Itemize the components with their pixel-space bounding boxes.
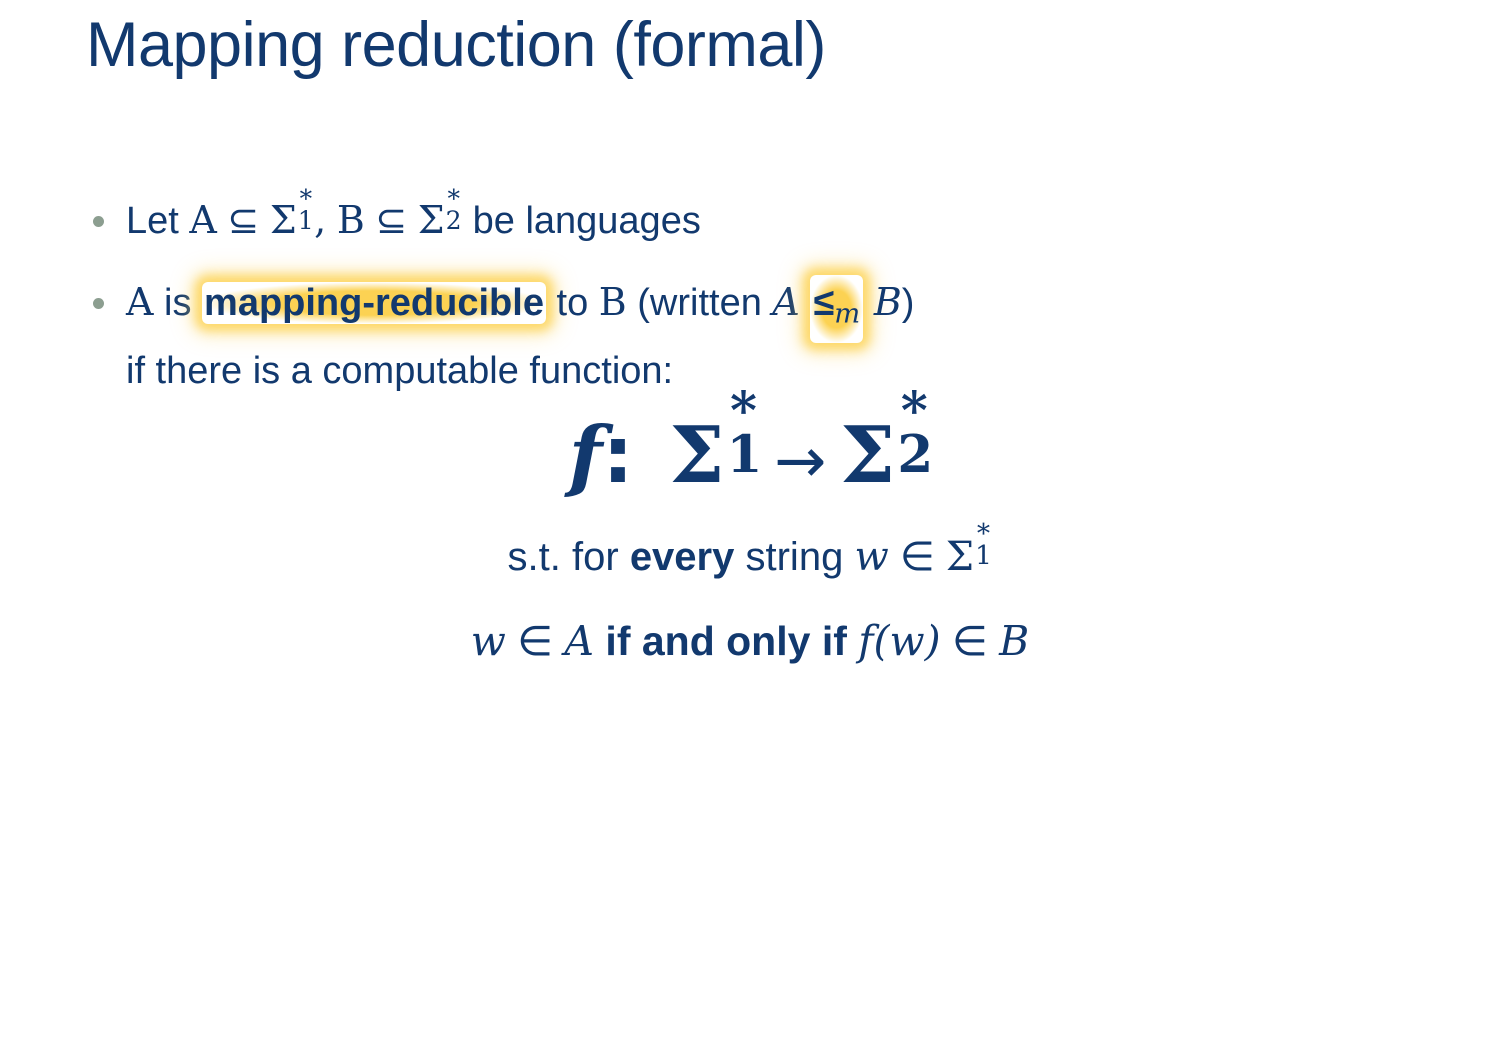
right-arrow-icon: → bbox=[760, 424, 840, 497]
comma: , bbox=[314, 198, 326, 242]
text-is: is bbox=[164, 282, 191, 324]
colon: : bbox=[602, 411, 633, 501]
sigma-1-star-display: Σ∗1 bbox=[669, 404, 760, 504]
bullet-dot-icon bbox=[93, 216, 104, 227]
le-operator: ≤ bbox=[813, 282, 834, 324]
var-A: A bbox=[126, 280, 153, 324]
text-if-and-only-if-bold: if and only if bbox=[605, 618, 846, 664]
sigma-subscript: 1 bbox=[727, 430, 763, 481]
sigma-subscript: 1 bbox=[975, 543, 992, 569]
function-signature-formula: f:Σ∗1→Σ∗2 bbox=[0, 404, 1500, 509]
function-name-f: f bbox=[569, 410, 603, 501]
var-A: A bbox=[189, 198, 216, 242]
sigma-glyph: Σ bbox=[946, 534, 974, 580]
sigma-1-star: Σ∗1 bbox=[270, 192, 314, 249]
element-of-operator: ∈ bbox=[517, 617, 553, 665]
text-st-for: s.t. for bbox=[508, 535, 619, 579]
function-name-f: f bbox=[858, 617, 873, 665]
subset-operator-2: ⊆ bbox=[375, 198, 407, 242]
element-of-operator-2: ∈ bbox=[952, 617, 988, 665]
sigma-2-star: Σ∗2 bbox=[418, 192, 462, 249]
text-written-open: (written bbox=[637, 282, 762, 324]
element-of-operator: ∈ bbox=[900, 534, 935, 580]
text-written-close: ) bbox=[902, 282, 915, 324]
text-to: to bbox=[557, 282, 589, 324]
text-every-bold: every bbox=[630, 535, 735, 579]
highlight-mapping-reducible: mapping-reducible bbox=[202, 282, 546, 324]
math-var-w-arg: w bbox=[889, 617, 924, 665]
math-var-A: A bbox=[564, 617, 594, 665]
math-var-w: w bbox=[854, 534, 888, 580]
sigma-glyph-2: Σ bbox=[840, 410, 895, 501]
bullet-dot-icon bbox=[93, 298, 104, 309]
slide-canvas: Mapping reduction (formal) Let A ⊆ Σ∗1, … bbox=[0, 0, 1500, 1050]
page-title: Mapping reduction (formal) bbox=[86, 6, 826, 84]
sigma-glyph: Σ bbox=[669, 410, 724, 501]
kleene-star: ∗ bbox=[726, 376, 762, 427]
kleene-star: ∗ bbox=[975, 516, 993, 542]
list-item: Let A ⊆ Σ∗1, B ⊆ Σ∗2 be languages bbox=[84, 192, 1424, 250]
sigma-2-star-display: Σ∗2 bbox=[840, 404, 931, 504]
highlight-le-m: ≤m bbox=[810, 275, 863, 343]
subset-operator: ⊆ bbox=[227, 198, 259, 242]
text-be-languages: be languages bbox=[473, 200, 701, 242]
math-var-w: w bbox=[471, 617, 506, 665]
condition-iff: w ∈ A if and only if f(w) ∈ B bbox=[0, 612, 1500, 670]
bullet-text-languages: Let A ⊆ Σ∗1, B ⊆ Σ∗2 be languages bbox=[126, 200, 701, 242]
var-B: B bbox=[599, 280, 627, 324]
text-let: Let bbox=[126, 200, 179, 242]
sigma-1-star-condition: Σ∗1 bbox=[946, 529, 993, 585]
math-var-A: A bbox=[772, 280, 799, 324]
paren-open: ( bbox=[873, 617, 889, 665]
bullet-text-mapping-reducible: A is mapping-reducible to B (written A ≤… bbox=[126, 282, 914, 392]
le-subscript-m: m bbox=[834, 299, 860, 330]
math-var-B: B bbox=[999, 617, 1029, 665]
slide-body: Let A ⊆ Σ∗1, B ⊆ Σ∗2 be languages A is m… bbox=[84, 192, 1424, 400]
sigma-subscript: 1 bbox=[298, 208, 314, 233]
sigma-subscript-2: 2 bbox=[897, 430, 933, 481]
sigma-glyph-2: Σ bbox=[418, 198, 445, 242]
kleene-star-2: ∗ bbox=[896, 376, 932, 427]
sigma-glyph: Σ bbox=[270, 198, 297, 242]
sigma-subscript-2: 2 bbox=[446, 208, 462, 233]
var-B: B bbox=[337, 198, 365, 242]
paren-close: ) bbox=[925, 617, 941, 665]
text-computable-function: if there is a computable function: bbox=[126, 350, 673, 392]
kleene-star: ∗ bbox=[297, 181, 314, 206]
kleene-star-2: ∗ bbox=[445, 181, 462, 206]
math-var-B: B bbox=[874, 280, 902, 324]
condition-for-every: s.t. for every string w ∈ Σ∗1 bbox=[0, 529, 1500, 585]
text-string: string bbox=[746, 535, 844, 579]
